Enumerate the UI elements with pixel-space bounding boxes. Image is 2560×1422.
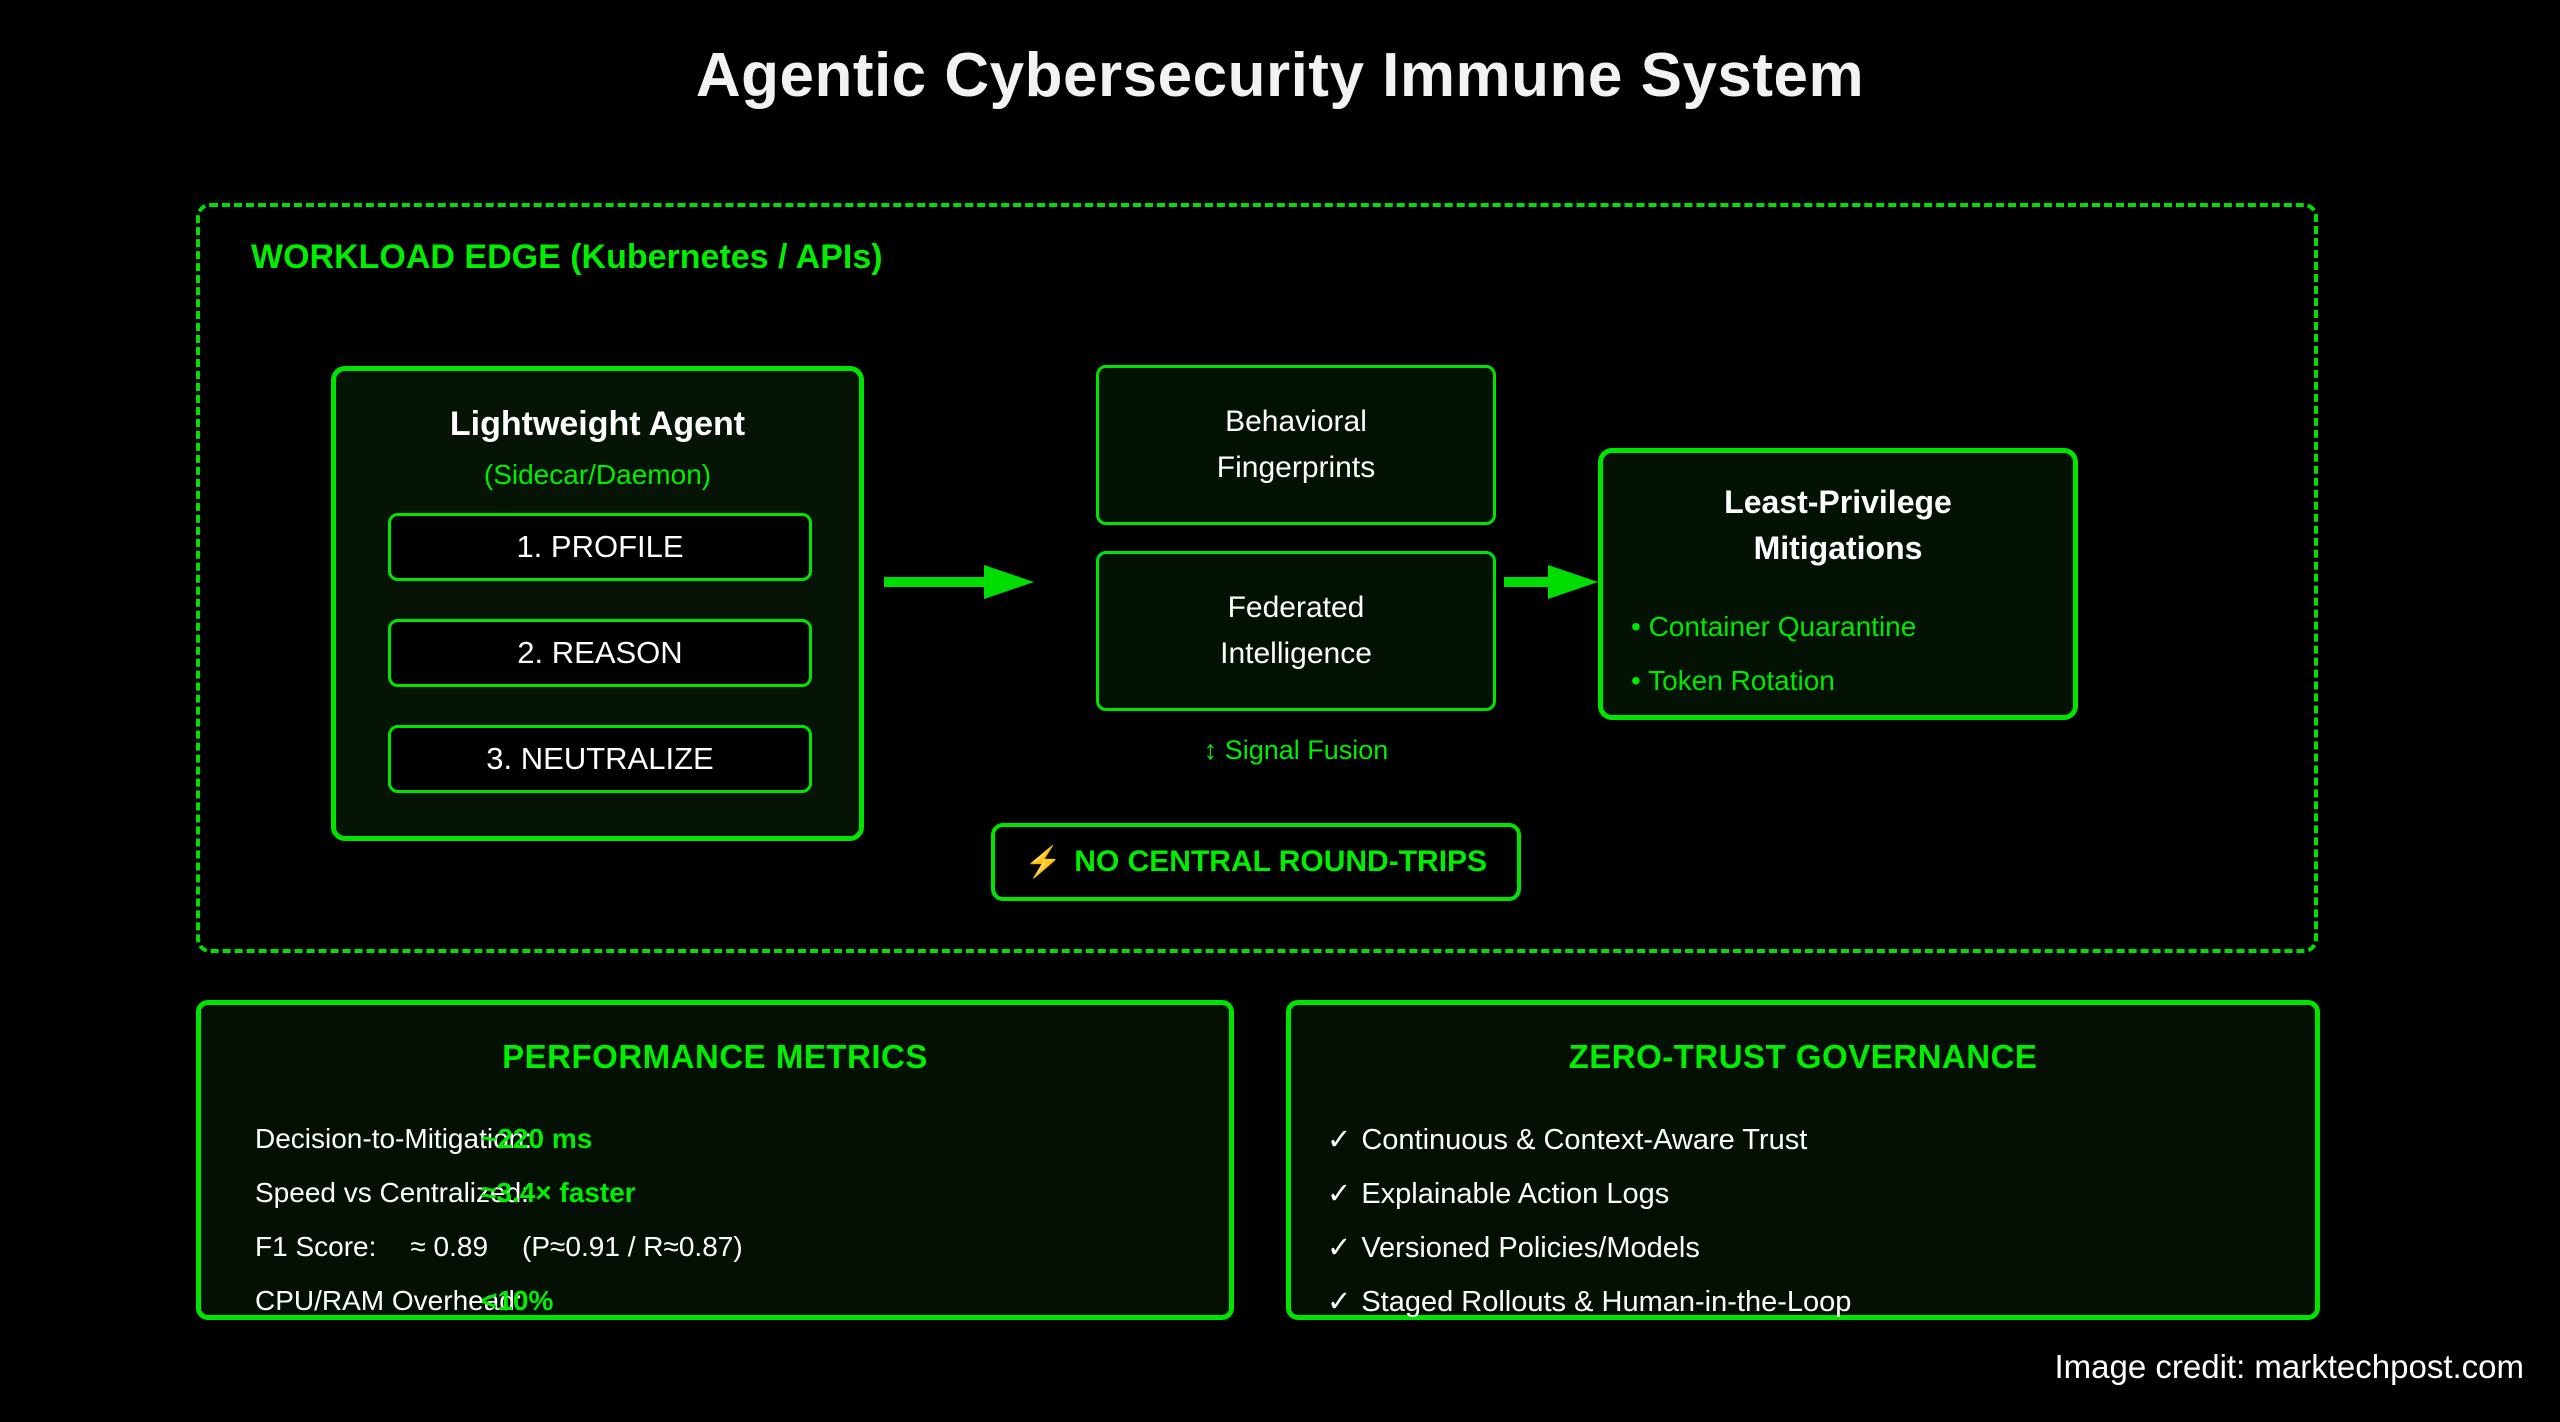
metric-row: CPU/RAM Overhead: <10% (255, 1285, 553, 1317)
agent-step-neutralize[interactable]: 3. NEUTRALIZE (388, 725, 812, 793)
mitigations-title: Least-Privilege Mitigations (1603, 479, 2073, 572)
check-icon: ✓ (1327, 1124, 1351, 1156)
metric-label: Speed vs Centralized: (255, 1177, 481, 1209)
performance-metrics-panel: PERFORMANCE METRICS Decision-to-Mitigati… (196, 1000, 1234, 1320)
federated-intelligence-box: Federated Intelligence (1096, 551, 1496, 711)
behavioral-fingerprints-line2: Fingerprints (1217, 445, 1375, 492)
federated-intelligence-line2: Intelligence (1220, 631, 1372, 678)
check-icon: ✓ (1327, 1178, 1351, 1210)
metric-value: <10% (481, 1285, 553, 1317)
metric-label: CPU/RAM Overhead: (255, 1285, 481, 1317)
arrow-signals-to-mitigations-icon (1504, 562, 1598, 607)
metric-value: ≈3.4× faster (481, 1177, 636, 1209)
workload-edge-label: WORKLOAD EDGE (Kubernetes / APIs) (251, 238, 883, 277)
performance-metrics-title: PERFORMANCE METRICS (201, 1038, 1229, 1076)
check-icon: ✓ (1327, 1286, 1351, 1318)
page-title: Agentic Cybersecurity Immune System (0, 40, 2560, 111)
no-central-round-trips-badge: ⚡ NO CENTRAL ROUND-TRIPS (991, 823, 1521, 901)
zero-trust-governance-title: ZERO-TRUST GOVERNANCE (1291, 1038, 2315, 1076)
metric-note: (P≈0.91 / R≈0.87) (522, 1231, 743, 1263)
governance-item-label: Continuous & Context-Aware Trust (1361, 1124, 1807, 1156)
federated-intelligence-line1: Federated (1228, 585, 1365, 632)
governance-row: ✓Versioned Policies/Models (1327, 1230, 1700, 1265)
mitigations-title-line1: Least-Privilege (1603, 479, 2073, 525)
agent-subtitle: (Sidecar/Daemon) (336, 459, 859, 491)
mitigation-item-container-quarantine: • Container Quarantine (1631, 611, 1916, 643)
governance-row: ✓Continuous & Context-Aware Trust (1327, 1122, 1807, 1157)
behavioral-fingerprints-line1: Behavioral (1225, 399, 1367, 446)
governance-row: ✓Explainable Action Logs (1327, 1176, 1669, 1211)
zero-trust-governance-panel: ZERO-TRUST GOVERNANCE ✓Continuous & Cont… (1286, 1000, 2320, 1320)
governance-item-label: Explainable Action Logs (1361, 1178, 1669, 1210)
governance-item-label: Versioned Policies/Models (1361, 1232, 1700, 1264)
agent-title: Lightweight Agent (336, 405, 859, 444)
metric-value: ≈ 0.89 (410, 1231, 488, 1263)
behavioral-fingerprints-box: Behavioral Fingerprints (1096, 365, 1496, 525)
metric-value: ~220 ms (481, 1123, 592, 1155)
metric-row: Speed vs Centralized: ≈3.4× faster (255, 1177, 636, 1209)
arrow-agent-to-signals-icon (884, 562, 1034, 607)
least-privilege-mitigations-card: Least-Privilege Mitigations • Container … (1598, 448, 2078, 720)
governance-item-label: Staged Rollouts & Human-in-the-Loop (1361, 1286, 1851, 1318)
metric-row: Decision-to-Mitigation: ~220 ms (255, 1123, 592, 1155)
check-icon: ✓ (1327, 1232, 1351, 1264)
mitigation-item-token-rotation: • Token Rotation (1631, 665, 1835, 697)
lightweight-agent-card: Lightweight Agent (Sidecar/Daemon) 1. PR… (331, 366, 864, 841)
lightning-bolt-icon: ⚡ (1025, 845, 1062, 880)
mitigations-title-line2: Mitigations (1603, 525, 2073, 571)
no-central-round-trips-label: NO CENTRAL ROUND-TRIPS (1074, 845, 1487, 879)
metric-label: F1 Score: (255, 1231, 376, 1263)
agent-step-profile[interactable]: 1. PROFILE (388, 513, 812, 581)
signal-fusion-label: ↕ Signal Fusion (1096, 735, 1496, 766)
metric-label: Decision-to-Mitigation: (255, 1123, 481, 1155)
metric-row: F1 Score: ≈ 0.89 (P≈0.91 / R≈0.87) (255, 1231, 743, 1263)
image-credit: Image credit: marktechpost.com (2054, 1348, 2524, 1386)
governance-row: ✓Staged Rollouts & Human-in-the-Loop (1327, 1284, 1851, 1319)
agent-step-reason[interactable]: 2. REASON (388, 619, 812, 687)
